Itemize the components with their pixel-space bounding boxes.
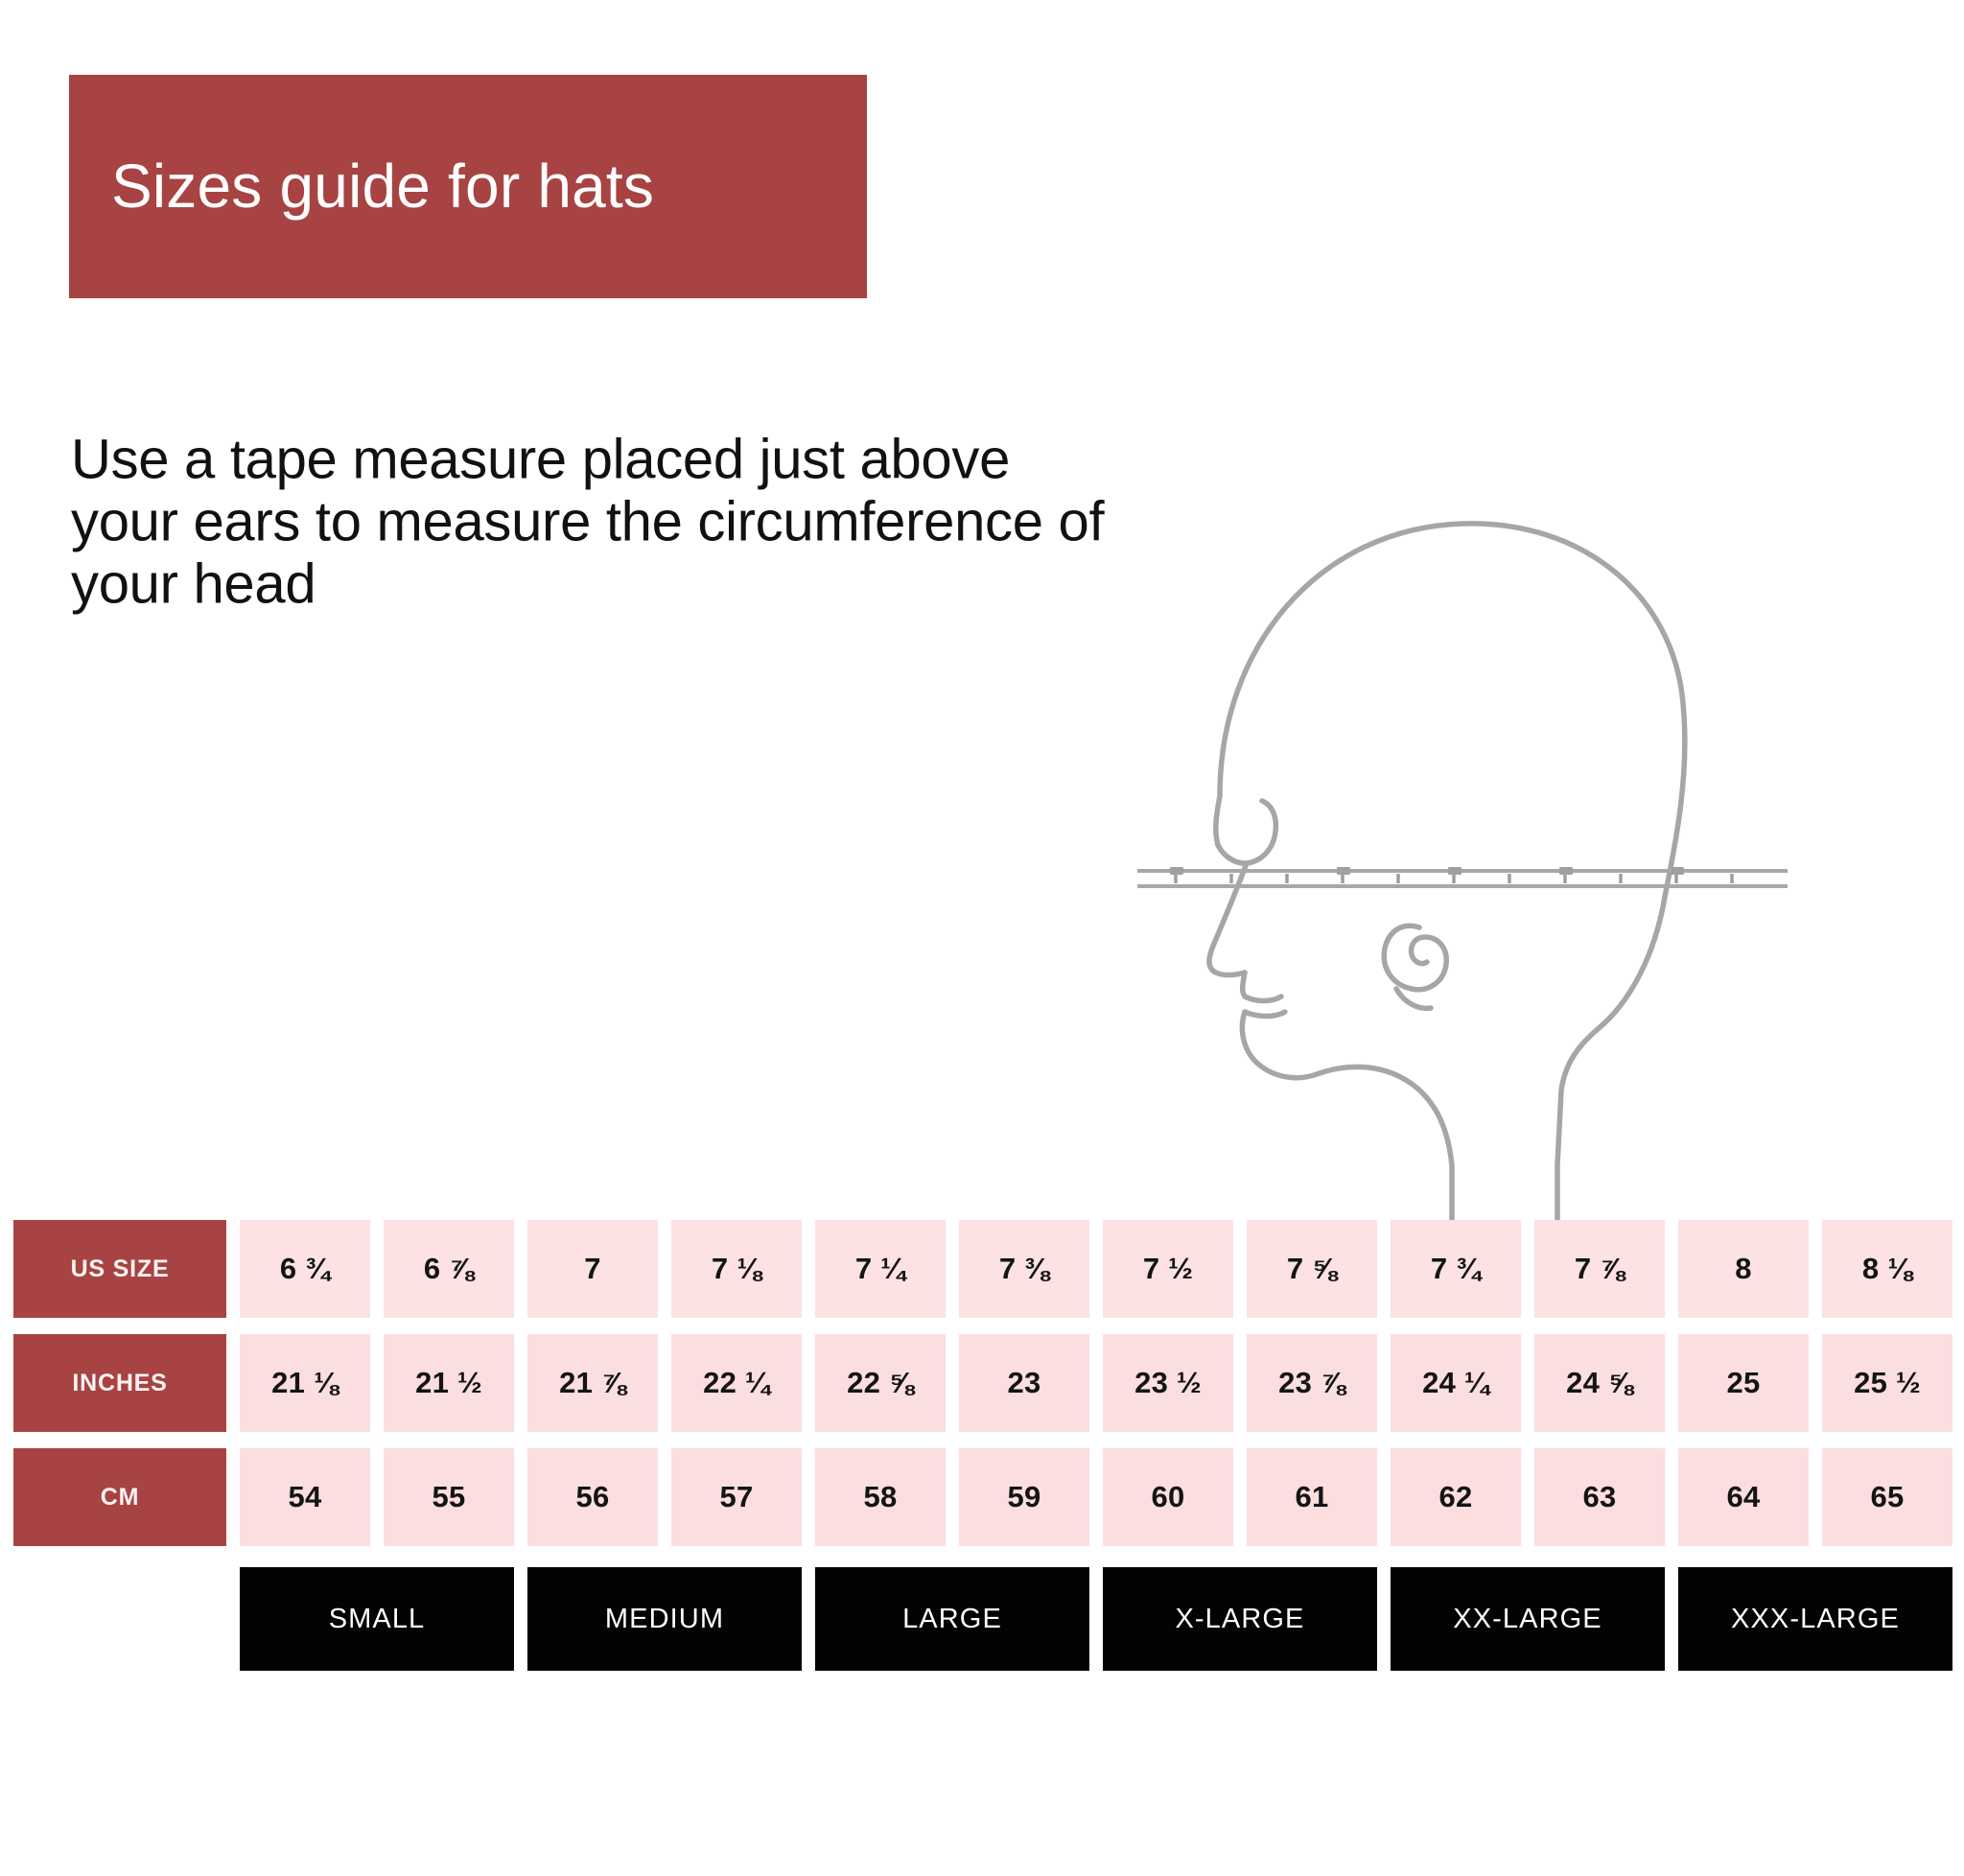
table-cell: 57 [671, 1448, 802, 1546]
table-cell: 24 ⅝ [1534, 1334, 1665, 1432]
table-cell: 65 [1822, 1448, 1952, 1546]
size-bar-large: LARGE [815, 1567, 1089, 1671]
table-cell: 25 ½ [1822, 1334, 1952, 1432]
table-cell: 21 ½ [384, 1334, 514, 1432]
row-cells-inches: 21 ⅛ 21 ½ 21 ⅞ 22 ¼ 22 ⅝ 23 23 ½ 23 ⅞ 24… [240, 1334, 1952, 1432]
table-cell: 61 [1247, 1448, 1377, 1546]
size-bar-x-large: X-LARGE [1103, 1567, 1377, 1671]
table-cell: 7 ⅝ [1247, 1220, 1377, 1318]
page-title: Sizes guide for hats [69, 152, 654, 220]
head-profile-with-tape-measure-illustration [1132, 340, 1793, 1223]
size-guide-page: Sizes guide for hats Use a tape measure … [0, 0, 1964, 1876]
table-row-cm: CM 54 55 56 57 58 59 60 61 62 63 64 65 [13, 1448, 1952, 1546]
table-cell: 7 ½ [1103, 1220, 1233, 1318]
table-cell: 59 [959, 1448, 1089, 1546]
row-header-us-size: US SIZE [13, 1220, 226, 1318]
table-cell: 60 [1103, 1448, 1233, 1546]
tape-measure-icon [1137, 871, 1788, 886]
table-cell: 24 ¼ [1391, 1334, 1521, 1432]
table-cell: 22 ¼ [671, 1334, 802, 1432]
size-label-bars: SMALL MEDIUM LARGE X-LARGE XX-LARGE XXX-… [13, 1567, 1952, 1671]
table-cell: 64 [1678, 1448, 1809, 1546]
table-cell: 23 [959, 1334, 1089, 1432]
table-cell: 63 [1534, 1448, 1665, 1546]
size-bar-small: SMALL [240, 1567, 514, 1671]
table-cell: 23 ⅞ [1247, 1334, 1377, 1432]
table-cell: 7 ⅛ [671, 1220, 802, 1318]
table-cell: 54 [240, 1448, 370, 1546]
row-header-inches: INCHES [13, 1334, 226, 1432]
table-row-inches: INCHES 21 ⅛ 21 ½ 21 ⅞ 22 ¼ 22 ⅝ 23 23 ½ … [13, 1334, 1952, 1432]
table-cell: 7 ⅜ [959, 1220, 1089, 1318]
table-cell: 8 [1678, 1220, 1809, 1318]
table-cell: 23 ½ [1103, 1334, 1233, 1432]
table-cell: 7 [527, 1220, 658, 1318]
head-outline-icon [1132, 340, 1793, 1223]
title-banner: Sizes guide for hats [69, 75, 867, 298]
table-cell: 7 ¾ [1391, 1220, 1521, 1318]
table-cell: 21 ⅛ [240, 1334, 370, 1432]
table-cell: 62 [1391, 1448, 1521, 1546]
instruction-text: Use a tape measure placed just above you… [71, 430, 1126, 617]
row-cells-us-size: 6 ¾ 6 ⅞ 7 7 ⅛ 7 ¼ 7 ⅜ 7 ½ 7 ⅝ 7 ¾ 7 ⅞ 8 … [240, 1220, 1952, 1318]
row-cells-cm: 54 55 56 57 58 59 60 61 62 63 64 65 [240, 1448, 1952, 1546]
table-cell: 25 [1678, 1334, 1809, 1432]
table-cell: 22 ⅝ [815, 1334, 946, 1432]
size-bar-medium: MEDIUM [527, 1567, 802, 1671]
table-cell: 7 ¼ [815, 1220, 946, 1318]
size-bar-xxx-large: XXX-LARGE [1678, 1567, 1952, 1671]
size-bar-xx-large: XX-LARGE [1391, 1567, 1665, 1671]
table-cell: 6 ⅞ [384, 1220, 514, 1318]
table-cell: 6 ¾ [240, 1220, 370, 1318]
size-table: US SIZE 6 ¾ 6 ⅞ 7 7 ⅛ 7 ¼ 7 ⅜ 7 ½ 7 ⅝ 7 … [13, 1220, 1952, 1671]
table-row-us-size: US SIZE 6 ¾ 6 ⅞ 7 7 ⅛ 7 ¼ 7 ⅜ 7 ½ 7 ⅝ 7 … [13, 1220, 1952, 1318]
table-cell: 56 [527, 1448, 658, 1546]
table-cell: 58 [815, 1448, 946, 1546]
table-cell: 21 ⅞ [527, 1334, 658, 1432]
row-header-cm: CM [13, 1448, 226, 1546]
table-cell: 8 ⅛ [1822, 1220, 1952, 1318]
table-cell: 55 [384, 1448, 514, 1546]
table-cell: 7 ⅞ [1534, 1220, 1665, 1318]
